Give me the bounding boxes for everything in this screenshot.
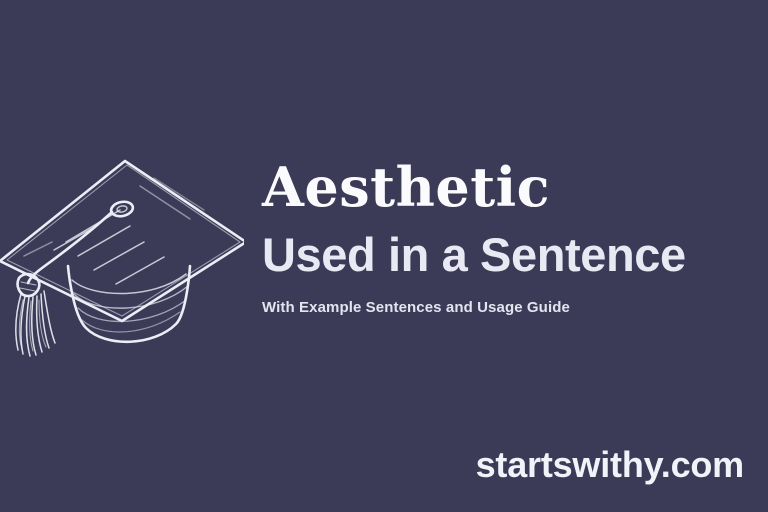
tassel-knot xyxy=(18,274,40,296)
graduation-cap-icon xyxy=(0,146,244,361)
headline-block: Aesthetic Used in a Sentence With Exampl… xyxy=(262,160,754,316)
page-title-phrase: Used in a Sentence xyxy=(262,231,754,278)
brand-domain: startswithy.com xyxy=(476,444,744,486)
page-subtitle: With Example Sentences and Usage Guide xyxy=(262,299,754,316)
mortarboard-hatching xyxy=(24,178,204,284)
banner-canvas: Aesthetic Used in a Sentence With Exampl… xyxy=(0,0,768,512)
cap-button-icon xyxy=(110,200,134,218)
page-title-word: Aesthetic xyxy=(262,160,754,214)
